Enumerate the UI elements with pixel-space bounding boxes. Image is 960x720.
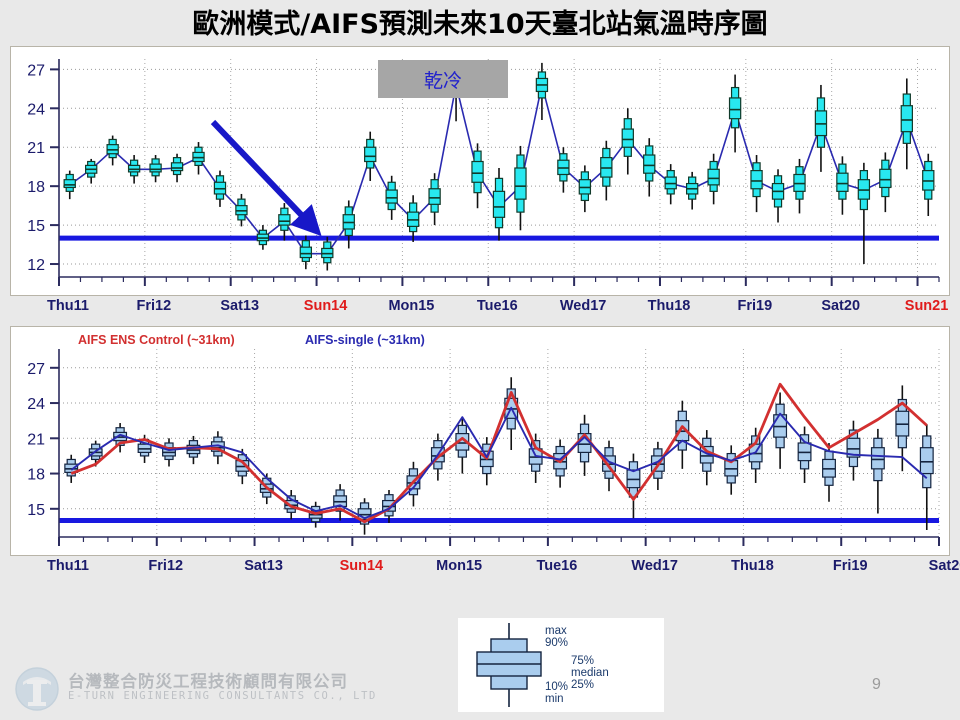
legend-aifs-single: AIFS-single (~31km) xyxy=(305,333,425,347)
y-tick-label: 21 xyxy=(27,140,45,157)
key-label-min: min xyxy=(545,693,564,706)
boxplot-key-glyph xyxy=(467,619,551,711)
y-tick-label: 27 xyxy=(27,361,45,378)
footer-company-cn: 台灣整合防災工程技術顧問有限公司 xyxy=(68,668,348,692)
y-tick-label: 27 xyxy=(27,62,45,79)
x-axis-label: Tue16 xyxy=(477,298,518,314)
x-axis-labels-bottom: Thu11Fri12Sat13Sun14Mon15Tue16Wed17Thu18… xyxy=(10,558,950,582)
y-tick-label: 18 xyxy=(27,179,45,196)
footer-branding: 台灣整合防災工程技術顧問有限公司 E-TURN ENGINEERING CONS… xyxy=(14,664,434,714)
x-axis-label: Fri19 xyxy=(737,298,772,314)
chart-panel-bottom: 1518212427 xyxy=(10,326,950,556)
x-axis-label: Sun14 xyxy=(340,558,384,574)
x-axis-label: Mon15 xyxy=(388,298,434,314)
y-tick-label: 24 xyxy=(27,396,45,413)
x-axis-label: Sun14 xyxy=(304,298,348,314)
x-axis-label: Thu11 xyxy=(47,298,89,314)
y-tick-label: 12 xyxy=(27,257,45,274)
x-axis-label: Sun21 xyxy=(905,298,949,314)
x-axis-label: Fri19 xyxy=(833,558,868,574)
boxplot-legend-key: max 90% 75% median 25% 10% min xyxy=(458,618,664,712)
slide-canvas: 歐洲模式/AIFS預測未來10天臺北站氣溫時序圖 121518212427 Th… xyxy=(0,0,960,720)
x-axis-label: Sat20 xyxy=(929,558,960,574)
x-axis-label: Fri12 xyxy=(137,298,172,314)
key-label-p10: 10% xyxy=(545,681,568,694)
x-axis-label: Wed17 xyxy=(631,558,677,574)
x-axis-label: Sat13 xyxy=(244,558,283,574)
x-axis-label: Sat13 xyxy=(220,298,259,314)
key-label-median: median xyxy=(571,667,609,680)
x-axis-label: Mon15 xyxy=(436,558,482,574)
chart-bottom-svg: 1518212427 xyxy=(11,327,949,555)
y-tick-label: 18 xyxy=(27,467,45,484)
annotation-box: 乾冷 xyxy=(378,60,508,98)
key-label-p75: 75% xyxy=(571,655,594,668)
page-title: 歐洲模式/AIFS預測未來10天臺北站氣溫時序圖 xyxy=(0,2,960,41)
x-axis-label: Thu11 xyxy=(47,558,89,574)
x-axis-label: Thu18 xyxy=(731,558,774,574)
x-axis-label: Thu18 xyxy=(648,298,691,314)
x-axis-label: Fri12 xyxy=(148,558,183,574)
y-tick-label: 21 xyxy=(27,431,45,448)
page-number: 9 xyxy=(872,676,881,694)
x-axis-label: Wed17 xyxy=(560,298,606,314)
company-logo-icon xyxy=(14,666,60,712)
y-tick-label: 15 xyxy=(27,502,45,519)
x-axis-label: Tue16 xyxy=(536,558,577,574)
key-label-p25: 25% xyxy=(571,679,594,692)
legend-ens-control: AIFS ENS Control (~31km) xyxy=(78,333,235,347)
key-label-max: max xyxy=(545,625,567,638)
annotation-label: 乾冷 xyxy=(424,66,462,93)
x-axis-label: Sat20 xyxy=(821,298,860,314)
key-label-p90: 90% xyxy=(545,637,568,650)
x-axis-labels-top: Thu11Fri12Sat13Sun14Mon15Tue16Wed17Thu18… xyxy=(10,298,950,322)
footer-company-en: E-TURN ENGINEERING CONSULTANTS CO., LTD xyxy=(68,690,377,702)
y-tick-label: 24 xyxy=(27,101,45,118)
y-tick-label: 15 xyxy=(27,218,45,235)
